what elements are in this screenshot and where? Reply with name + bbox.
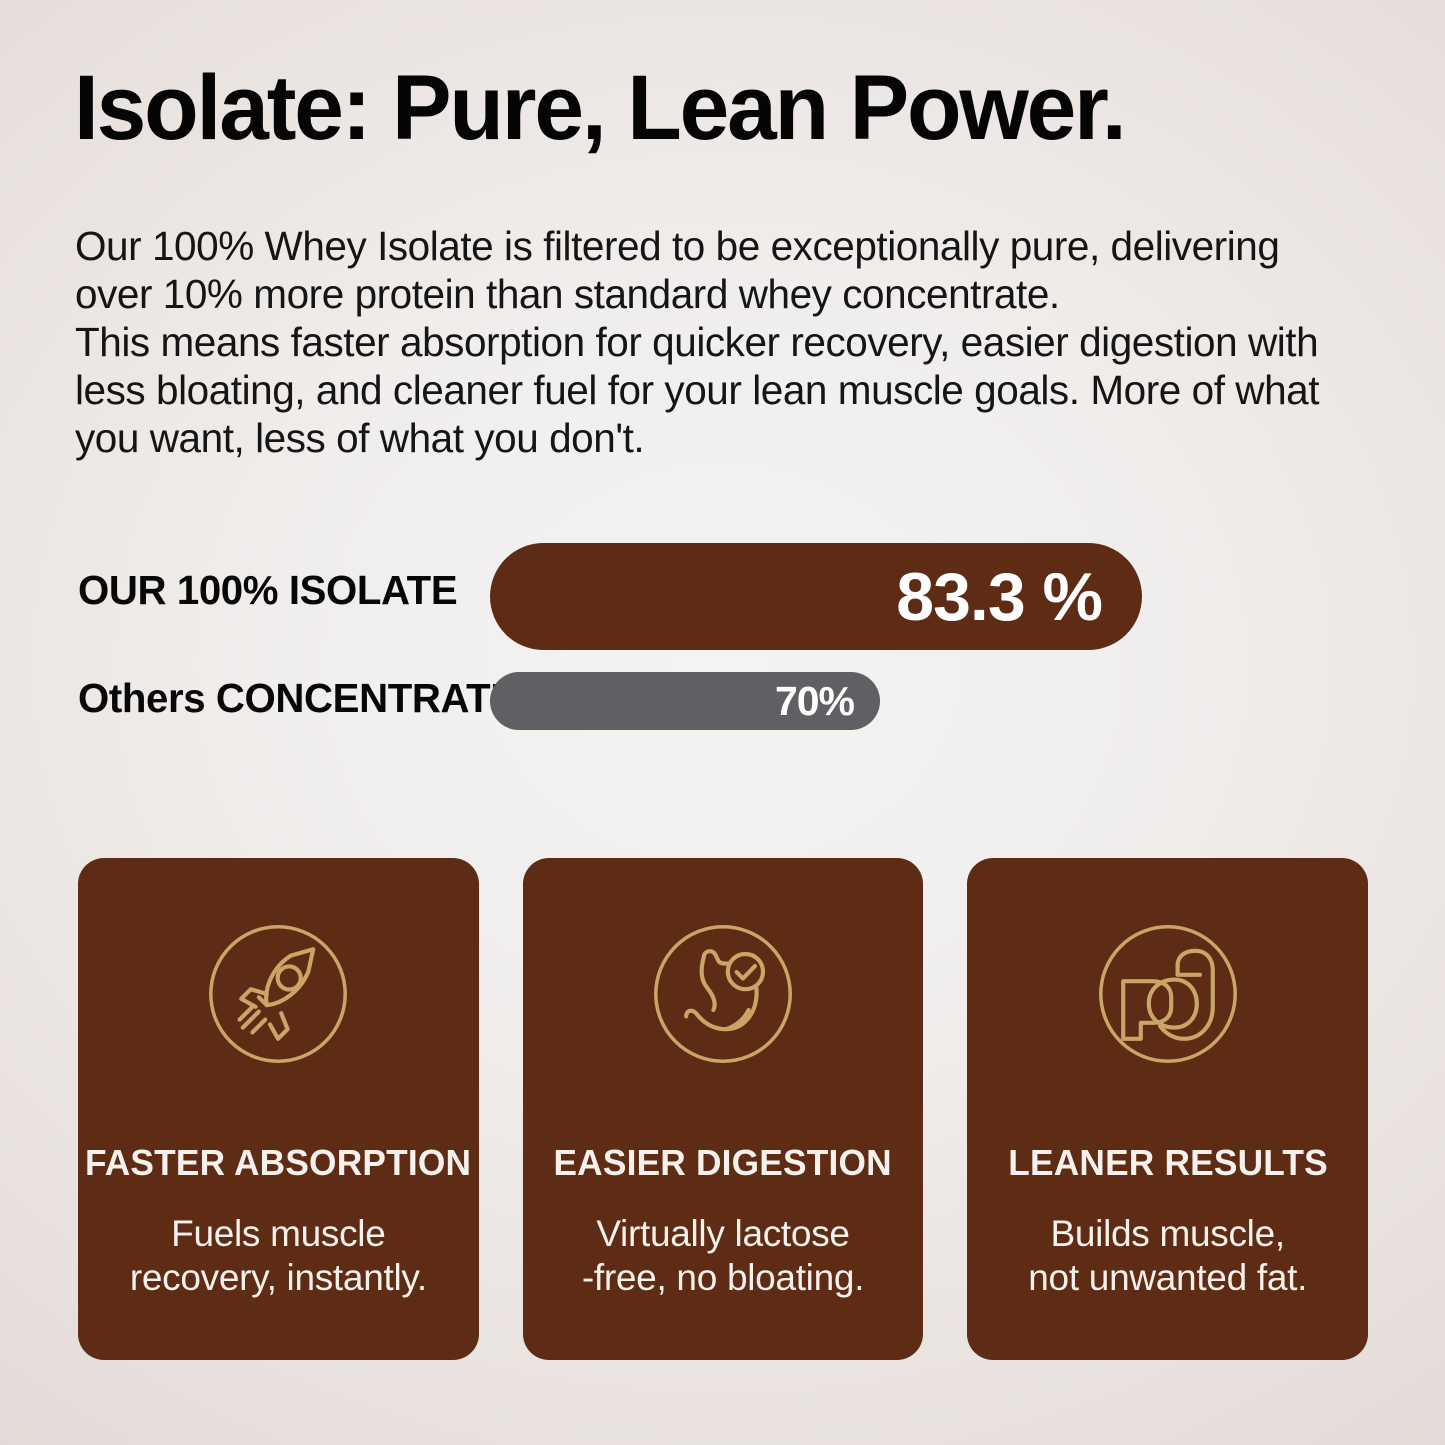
infographic-page: Isolate: Pure, Lean Power. Our 100% Whey… (0, 0, 1445, 1445)
chart-track-our-isolate: 83.3 % (490, 543, 1142, 650)
benefit-card-leaner-results: LEANER RESULTS Builds muscle, not unwant… (967, 858, 1368, 1360)
benefit-card-faster-absorption: FASTER ABSORPTION Fuels muscle recovery,… (78, 858, 479, 1360)
benefit-card-title: FASTER ABSORPTION (85, 1142, 471, 1184)
stomach-check-icon (643, 914, 803, 1074)
benefit-cards: FASTER ABSORPTION Fuels muscle recovery,… (78, 858, 1368, 1360)
protein-comparison-chart: OUR 100% ISOLATE 83.3 % Others CONCENTRA… (0, 528, 1445, 753)
page-title: Isolate: Pure, Lean Power. (74, 62, 1345, 154)
chart-label-our-isolate: OUR 100% ISOLATE (78, 567, 457, 614)
benefit-card-description: Builds muscle, not unwanted fat. (1028, 1212, 1307, 1300)
chart-row-others-concentrate: Others CONCENTRATE 70% (0, 672, 1445, 730)
chart-value-others-concentrate: 70% (775, 678, 854, 725)
chart-bar-others-concentrate: 70% (490, 672, 880, 730)
chart-track-others-concentrate: 70% (490, 672, 880, 730)
benefit-card-easier-digestion: EASIER DIGESTION Virtually lactose -free… (523, 858, 924, 1360)
intro-paragraph-2: This means faster absorption for quicker… (75, 318, 1325, 462)
chart-row-our-isolate: OUR 100% ISOLATE 83.3 % (0, 543, 1445, 650)
chart-label-others-concentrate: Others CONCENTRATE (78, 675, 517, 722)
benefit-card-description: Virtually lactose -free, no bloating. (582, 1212, 864, 1300)
rocket-icon (198, 914, 358, 1074)
chart-value-our-isolate: 83.3 % (896, 558, 1102, 636)
intro-paragraph-1: Our 100% Whey Isolate is filtered to be … (75, 222, 1325, 318)
flexed-bicep-icon (1088, 914, 1248, 1074)
chart-bar-our-isolate: 83.3 % (490, 543, 1142, 650)
intro-copy: Our 100% Whey Isolate is filtered to be … (75, 222, 1325, 462)
benefit-card-title: EASIER DIGESTION (554, 1142, 892, 1184)
benefit-card-description: Fuels muscle recovery, instantly. (130, 1212, 427, 1300)
benefit-card-title: LEANER RESULTS (1008, 1142, 1328, 1184)
